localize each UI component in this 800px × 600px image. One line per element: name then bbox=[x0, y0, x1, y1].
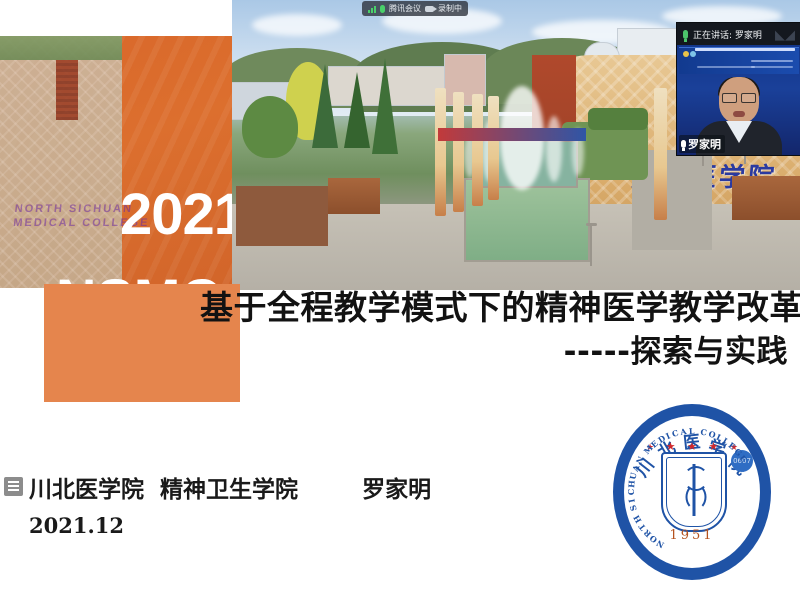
title-line-2: -----探索与实践 bbox=[200, 332, 788, 372]
university-emblem: 川 北 医 学 院 ★★★★★ 0607 1951 N O R T H S I … bbox=[613, 404, 771, 580]
side-wall bbox=[328, 178, 380, 214]
signal-bars-icon bbox=[368, 5, 376, 13]
tree bbox=[312, 64, 338, 148]
meeting-app-label: 腾讯会议 bbox=[389, 3, 421, 14]
fountain-jet bbox=[546, 116, 562, 182]
tree bbox=[372, 58, 398, 154]
decorative-column bbox=[654, 88, 667, 220]
lawn bbox=[588, 108, 648, 130]
video-feed[interactable]: 罗家明 bbox=[677, 45, 800, 155]
glasses bbox=[722, 93, 756, 101]
tree bbox=[242, 96, 298, 158]
conference-backdrop-banner bbox=[679, 47, 799, 74]
event-banner bbox=[438, 128, 586, 141]
microphone-icon bbox=[380, 5, 385, 13]
cloud bbox=[252, 14, 342, 36]
decorative-column bbox=[472, 94, 483, 206]
decorative-column bbox=[488, 96, 499, 200]
video-window-titlebar: 正在讲话: 罗家明 ◣◢ bbox=[677, 23, 800, 45]
camera-icon bbox=[425, 6, 434, 12]
slide-title: 基于全程教学模式下的精神医学教学改革 -----探索与实践 bbox=[200, 288, 788, 372]
block-top-strip bbox=[0, 36, 122, 60]
mouth bbox=[733, 111, 745, 117]
mountain-logo-icon: ◣◢ bbox=[775, 28, 795, 41]
banner-logo-icon bbox=[683, 51, 689, 57]
presentation-slide: 川北医学院 ◈ NORTH SICHUAN bbox=[0, 0, 800, 600]
speaker-name-badge: 罗家明 bbox=[679, 135, 725, 153]
list-icon bbox=[4, 477, 23, 496]
block-brick-detail bbox=[56, 60, 78, 120]
recording-status-label: 录制中 bbox=[438, 3, 462, 14]
street-lamp bbox=[590, 226, 592, 266]
microphone-icon bbox=[681, 140, 686, 148]
side-wall bbox=[732, 176, 800, 220]
affiliation-text: 川北医学院 精神卫生学院 罗家明 bbox=[29, 470, 431, 504]
date-text: 2021.12 bbox=[29, 513, 124, 538]
brand-color-block: NORTH SICHUAN MEDICAL COLLEGE 2021 NSMC bbox=[0, 36, 232, 288]
decorative-column bbox=[435, 88, 446, 216]
active-speaker-label: 正在讲话: 罗家明 bbox=[693, 28, 762, 41]
speaker-name: 罗家明 bbox=[688, 136, 721, 152]
side-pavilion bbox=[236, 186, 328, 246]
meeting-recording-pill[interactable]: 腾讯会议 录制中 bbox=[362, 1, 468, 16]
year-label: 2021 bbox=[120, 186, 232, 244]
title-line-1: 基于全程教学模式下的精神医学教学改革 bbox=[200, 288, 788, 328]
tree bbox=[344, 72, 370, 148]
decorative-column bbox=[453, 92, 464, 212]
banner-logo-icon bbox=[690, 51, 696, 57]
microphone-icon bbox=[683, 30, 688, 39]
emblem-name-en: N O R T H S I C H U A N M E D I C A L C … bbox=[613, 404, 771, 580]
speaker-video-window[interactable]: 正在讲话: 罗家明 ◣◢ 罗家明 bbox=[676, 22, 800, 156]
